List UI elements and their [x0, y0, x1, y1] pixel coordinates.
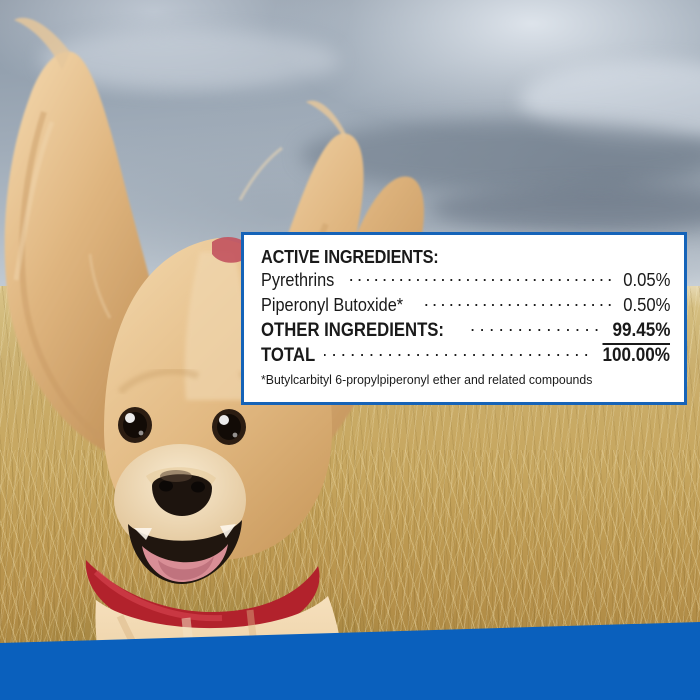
ingredient-value: 99.45% — [612, 320, 670, 342]
dot-leader — [423, 292, 615, 311]
active-ingredients-panel: ACTIVE INGREDIENTS: Pyrethrins 0.05% Pip… — [241, 232, 687, 405]
ingredient-name: Pyrethrins — [261, 269, 334, 291]
ingredient-value: 0.50% — [623, 294, 670, 316]
ingredient-value: 0.05% — [623, 269, 670, 291]
active-ingredients-heading: ACTIVE INGREDIENTS: — [261, 247, 621, 267]
ingredient-row-piperonyl-butoxide: Piperonyl Butoxide* 0.50% — [261, 292, 670, 316]
dot-leader — [470, 317, 604, 336]
dot-leader — [345, 268, 615, 287]
ingredient-total-value: 100.00% — [602, 343, 670, 367]
ingredient-name: TOTAL — [261, 345, 315, 367]
ingredient-name: Piperonyl Butoxide* — [261, 294, 403, 316]
ingredient-footnote: *Butylcarbityl 6-propylpiperonyl ether a… — [261, 372, 641, 387]
product-image-canvas: ACTIVE INGREDIENTS: Pyrethrins 0.05% Pip… — [0, 0, 700, 700]
ingredient-name: OTHER INGREDIENTS: — [261, 320, 444, 342]
ingredient-row-pyrethrins: Pyrethrins 0.05% — [261, 268, 670, 292]
ingredient-row-other-ingredients: OTHER INGREDIENTS: 99.45% — [261, 317, 670, 342]
ingredient-row-total: TOTAL 100.00% — [261, 342, 670, 367]
dot-leader — [324, 342, 593, 361]
